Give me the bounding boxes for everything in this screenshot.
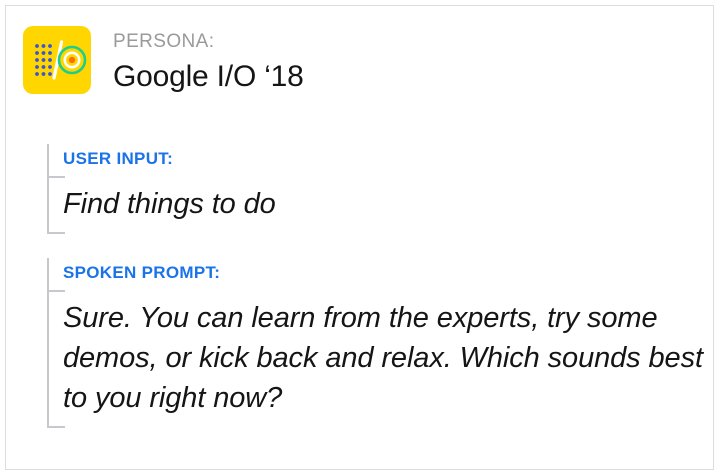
spoken-prompt-label: SPOKEN PROMPT: (63, 263, 220, 283)
bracket-bottom-tick-icon (47, 426, 65, 428)
persona-header: PERSONA: Google I/O ‘18 (23, 26, 304, 96)
user-input-label-bracket: USER INPUT: (47, 144, 703, 176)
bracket-top-tick-icon (47, 290, 65, 292)
bracket-bottom-tick-icon (47, 232, 65, 234)
section-user-input: USER INPUT: Find things to do (30, 144, 703, 234)
user-input-text: Find things to do (63, 176, 703, 234)
user-input-bracket-group: USER INPUT: Find things to do (30, 144, 703, 234)
user-input-label: USER INPUT: (63, 149, 173, 169)
google-io-logo-icon (23, 26, 91, 94)
persona-text-block: PERSONA: Google I/O ‘18 (113, 26, 304, 96)
spoken-prompt-body-bracket: Sure. You can learn from the experts, tr… (47, 290, 720, 428)
section-spoken-prompt: SPOKEN PROMPT: Sure. You can learn from … (30, 258, 720, 428)
spoken-prompt-bracket-group: SPOKEN PROMPT: Sure. You can learn from … (30, 258, 720, 428)
conversation-design-card: PERSONA: Google I/O ‘18 USER INPUT: Find… (5, 5, 714, 470)
spoken-prompt-label-bracket: SPOKEN PROMPT: (47, 258, 720, 290)
bracket-top-tick-icon (47, 176, 65, 178)
persona-name: Google I/O ‘18 (113, 58, 304, 96)
persona-label: PERSONA: (113, 30, 304, 54)
spoken-prompt-text: Sure. You can learn from the experts, tr… (63, 290, 720, 428)
user-input-body-bracket: Find things to do (47, 176, 703, 234)
